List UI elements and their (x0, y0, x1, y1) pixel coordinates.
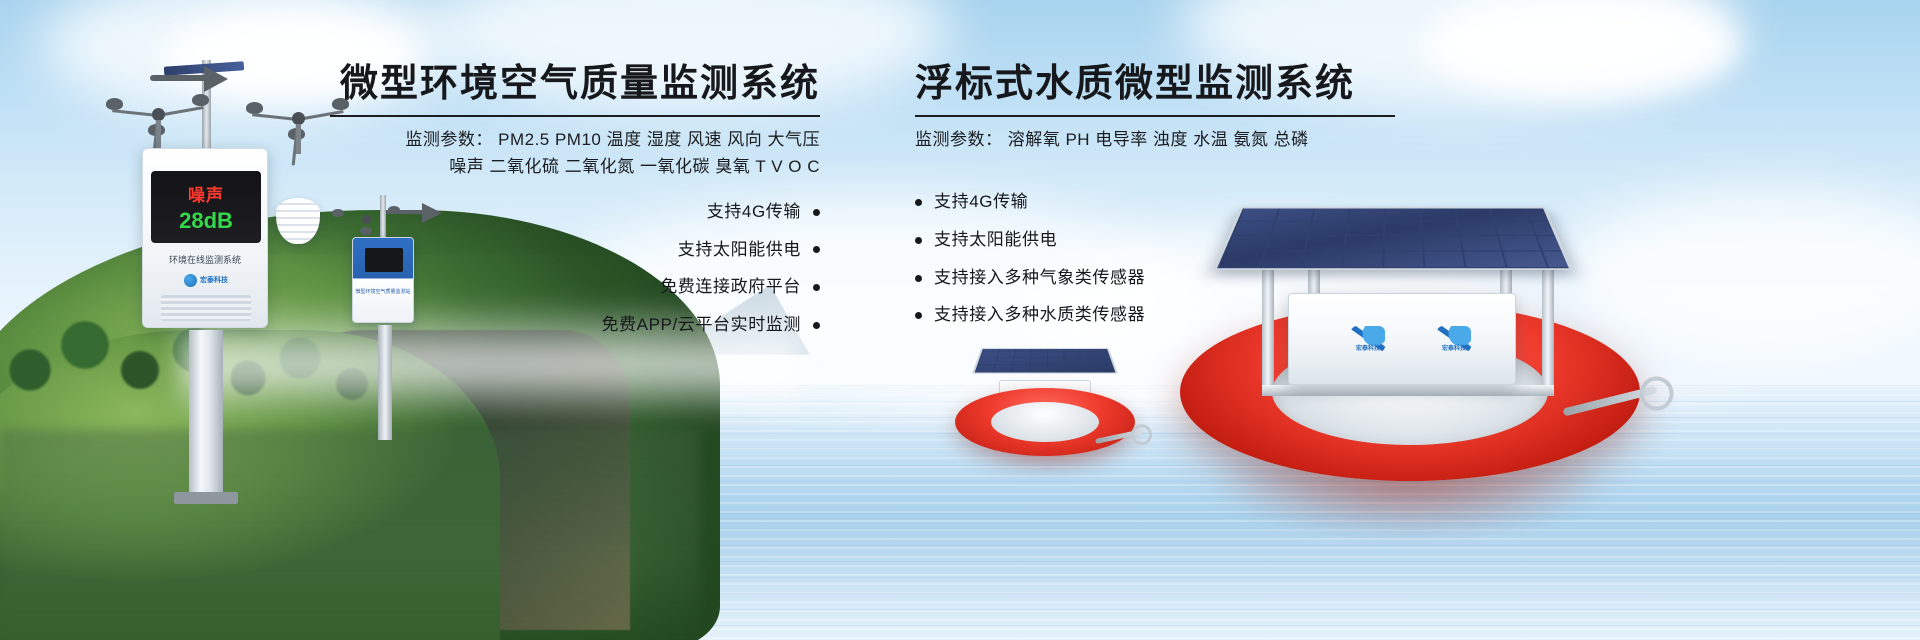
left-feature-list: 支持4G传输 支持太阳能供电 免费连接政府平台 免费APP/云平台实时监测 (330, 203, 820, 335)
bullet-dot-icon (915, 237, 922, 244)
feature-item: 支持4G传输 (915, 193, 1395, 212)
feature-item: 支持太阳能供电 (915, 231, 1395, 250)
feature-label: 支持太阳能供电 (678, 241, 801, 260)
bullet-dot-icon (813, 246, 820, 253)
feature-item: 免费连接政府平台 (330, 278, 820, 297)
feature-item: 免费APP/云平台实时监测 (330, 316, 820, 335)
right-title-rule (915, 115, 1395, 117)
left-params-line-2: 噪声 二氧化硫 二氧化氮 一氧化碳 臭氧 T V O C (330, 153, 820, 181)
feature-label: 免费APP/云平台实时监测 (601, 316, 801, 335)
feature-label: 支持接入多种气象类传感器 (934, 269, 1145, 288)
feature-item: 支持接入多种气象类传感器 (915, 269, 1395, 288)
bullet-dot-icon (813, 209, 820, 216)
feature-item: 支持接入多种水质类传感器 (915, 306, 1395, 325)
bullet-dot-icon (813, 284, 820, 291)
feature-label: 支持4G传输 (707, 203, 801, 222)
right-product-block: 浮标式水质微型监测系统 监测参数： 溶解氧 PH 电导率 浊度 水温 氨氮 总磷… (915, 62, 1395, 344)
feature-label: 支持4G传输 (934, 193, 1028, 212)
bullet-dot-icon (915, 199, 922, 206)
bullet-dot-icon (915, 312, 922, 319)
feature-label: 支持太阳能供电 (934, 231, 1057, 250)
left-title-rule (330, 115, 820, 117)
banner-content: 微型环境空气质量监测系统 监测参数： PM2.5 PM10 温度 湿度 风速 风… (0, 0, 1920, 640)
feature-item: 支持4G传输 (330, 203, 820, 222)
right-params-line-1: 监测参数： 溶解氧 PH 电导率 浊度 水温 氨氮 总磷 (915, 126, 1395, 154)
left-params-line-1: 监测参数： PM2.5 PM10 温度 湿度 风速 风向 大气压 (330, 126, 820, 154)
bullet-dot-icon (915, 275, 922, 282)
left-title: 微型环境空气质量监测系统 (330, 62, 820, 107)
feature-item: 支持太阳能供电 (330, 241, 820, 260)
feature-label: 支持接入多种水质类传感器 (934, 306, 1145, 325)
right-title: 浮标式水质微型监测系统 (915, 62, 1395, 107)
left-product-block: 微型环境空气质量监测系统 监测参数： PM2.5 PM10 温度 湿度 风速 风… (330, 62, 820, 354)
right-feature-list: 支持4G传输 支持太阳能供电 支持接入多种气象类传感器 支持接入多种水质类传感器 (915, 193, 1395, 325)
marketing-banner: 噪声 28dB 环境在线监测系统 宏泰科技 微型环境空气质量监测站 (0, 0, 1920, 640)
feature-label: 免费连接政府平台 (660, 278, 801, 297)
bullet-dot-icon (813, 322, 820, 329)
